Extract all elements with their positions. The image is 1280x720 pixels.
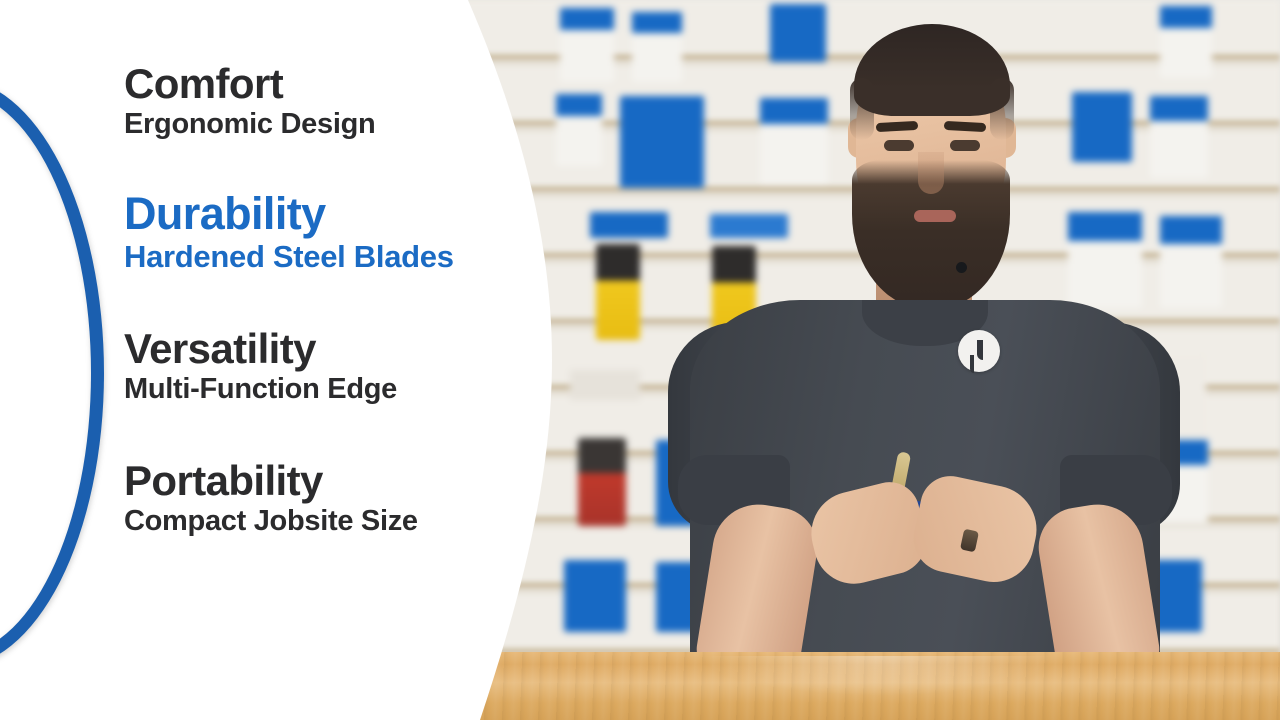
video-frame: JONARD TOOLS ® MADE IN USA SINCE 1958	[0, 0, 1280, 720]
mouth	[914, 210, 956, 222]
feature-title: Portability	[124, 459, 544, 503]
eye-left	[884, 140, 914, 151]
eye-right	[950, 140, 980, 151]
lapel-microphone	[956, 262, 967, 273]
feature-title: Durability	[124, 190, 544, 237]
hair-fade-right	[990, 78, 1014, 140]
feature-item-portability: Portability Compact Jobsite Size	[124, 459, 544, 541]
feature-subtitle: Multi-Function Edge	[124, 371, 544, 409]
hair	[854, 24, 1010, 116]
nose	[918, 152, 944, 194]
feature-subtitle: Hardened Steel Blades	[124, 237, 544, 277]
hair-fade-left	[850, 78, 874, 140]
feature-item-comfort: Comfort Ergonomic Design	[124, 62, 544, 144]
feature-title: Versatility	[124, 327, 544, 371]
feature-list: Comfort Ergonomic Design Durability Hard…	[124, 62, 544, 541]
feature-subtitle: Compact Jobsite Size	[124, 503, 544, 541]
feature-title: Comfort	[124, 62, 544, 106]
feature-item-durability: Durability Hardened Steel Blades	[124, 190, 544, 278]
shirt-logo-badge	[958, 330, 1000, 372]
feature-item-versatility: Versatility Multi-Function Edge	[124, 327, 544, 409]
feature-subtitle: Ergonomic Design	[124, 106, 544, 144]
counter-reflection	[700, 656, 1060, 696]
